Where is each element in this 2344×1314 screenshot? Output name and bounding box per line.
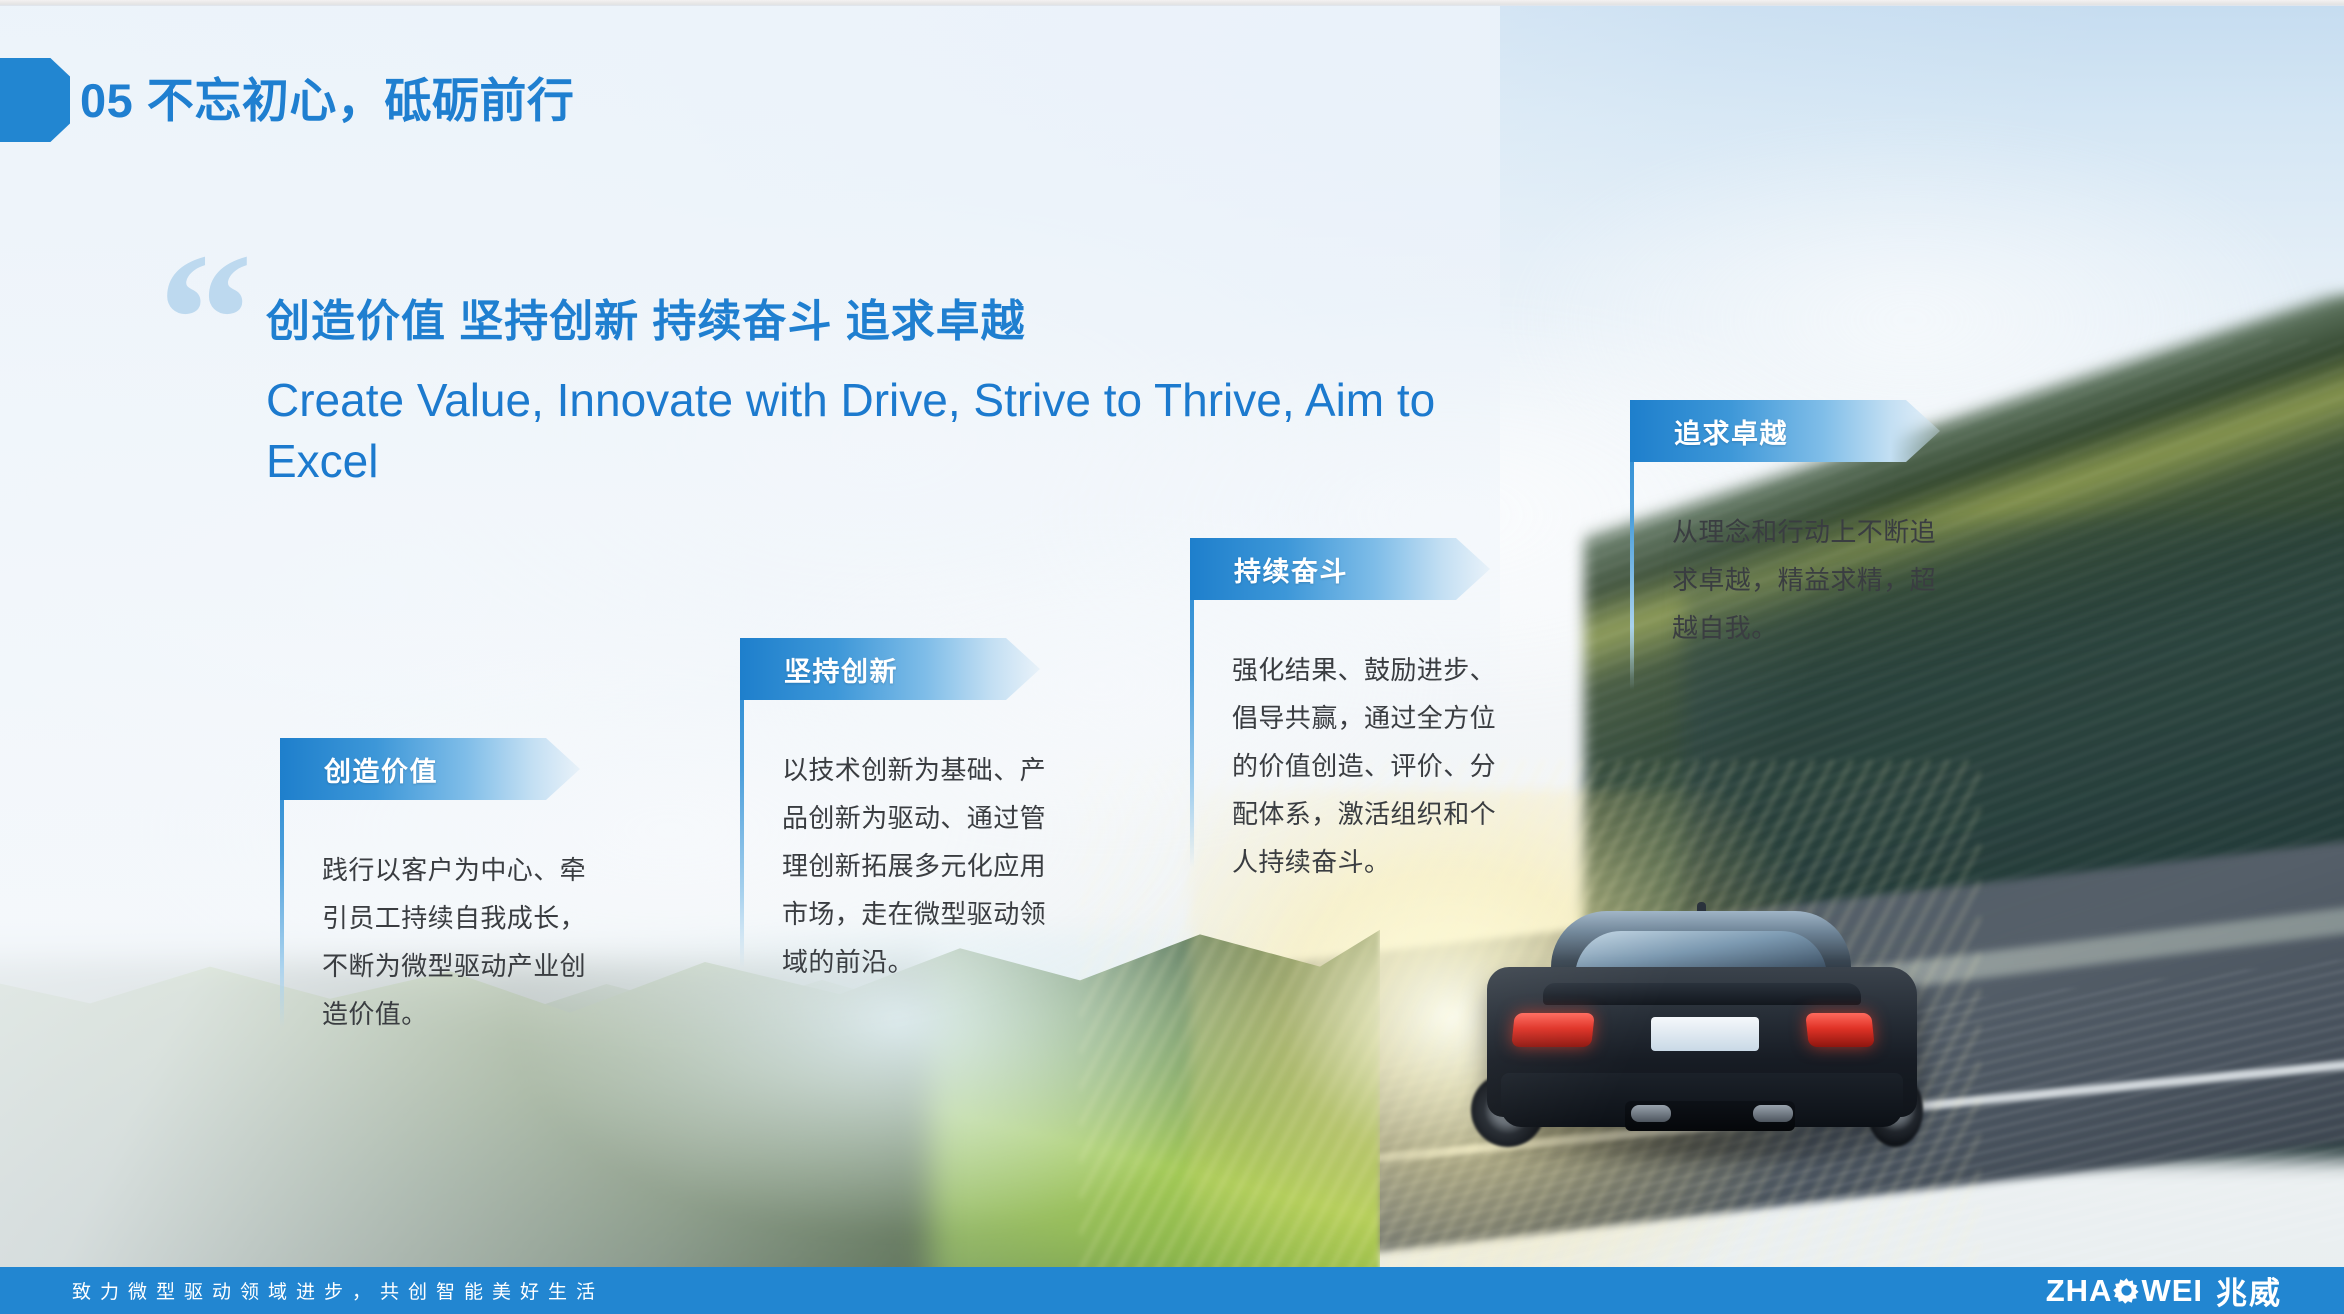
headline-chinese: 创造价值 坚持创新 持续奋斗 追求卓越	[266, 285, 1026, 349]
card-body-text: 从理念和行动上不断追求卓越，精益求精，超越自我。	[1630, 462, 1980, 652]
value-card[interactable]: 坚持创新 以技术创新为基础、产品创新为驱动、通过管理创新拓展多元化应用市场，走在…	[740, 638, 1072, 968]
logo-text-chinese: 兆威	[2216, 1268, 2282, 1313]
card-title: 坚持创新	[784, 650, 898, 689]
card-title: 创造价值	[324, 750, 438, 789]
gear-icon	[2113, 1277, 2140, 1304]
card-body-text: 践行以客户为中心、牵引员工持续自我成长，不断为微型驱动产业创造价值。	[280, 800, 610, 1038]
logo-text-prefix: ZHA	[2046, 1273, 2113, 1309]
value-card[interactable]: 创造价值 践行以客户为中心、牵引员工持续自我成长，不断为微型驱动产业创造价值。	[280, 738, 610, 1028]
value-card[interactable]: 追求卓越 从理念和行动上不断追求卓越，精益求精，超越自我。	[1630, 400, 1980, 690]
header-pentagon-accent	[0, 58, 70, 142]
card-body-text: 以技术创新为基础、产品创新为驱动、通过管理创新拓展多元化应用市场，走在微型驱动领…	[740, 700, 1072, 986]
slide-footer: 致力微型驱动领域进步，共创智能美好生活 ZHA WEI 兆威	[0, 1267, 2344, 1314]
card-header-banner: 创造价值	[280, 738, 580, 800]
card-header-banner: 坚持创新	[740, 638, 1040, 700]
card-title: 持续奋斗	[1234, 550, 1348, 589]
logo-text-suffix: WEI	[2141, 1273, 2203, 1309]
card-header-banner: 持续奋斗	[1190, 538, 1490, 600]
card-title: 追求卓越	[1674, 412, 1788, 451]
page-title: 05 不忘初心，砥砺前行	[80, 62, 574, 131]
card-header-banner: 追求卓越	[1630, 400, 1940, 462]
background-photo	[0, 0, 2344, 1314]
value-card[interactable]: 持续奋斗 强化结果、鼓励进步、倡导共赢，通过全方位的价值创造、评价、分配体系，激…	[1190, 538, 1530, 868]
footer-slogan: 致力微型驱动领域进步，共创智能美好生活	[72, 1277, 604, 1304]
card-body-text: 强化结果、鼓励进步、倡导共赢，通过全方位的价值创造、评价、分配体系，激活组织和个…	[1190, 600, 1530, 886]
company-logo: ZHA WEI 兆威	[2046, 1268, 2282, 1313]
presentation-slide: 05 不忘初心，砥砺前行 “ 创造价值 坚持创新 持续奋斗 追求卓越 Creat…	[0, 0, 2344, 1314]
top-edge-strip	[0, 0, 2344, 6]
headline-english: Create Value, Innovate with Drive, Striv…	[266, 370, 1496, 492]
quote-mark-icon: “	[158, 248, 253, 392]
